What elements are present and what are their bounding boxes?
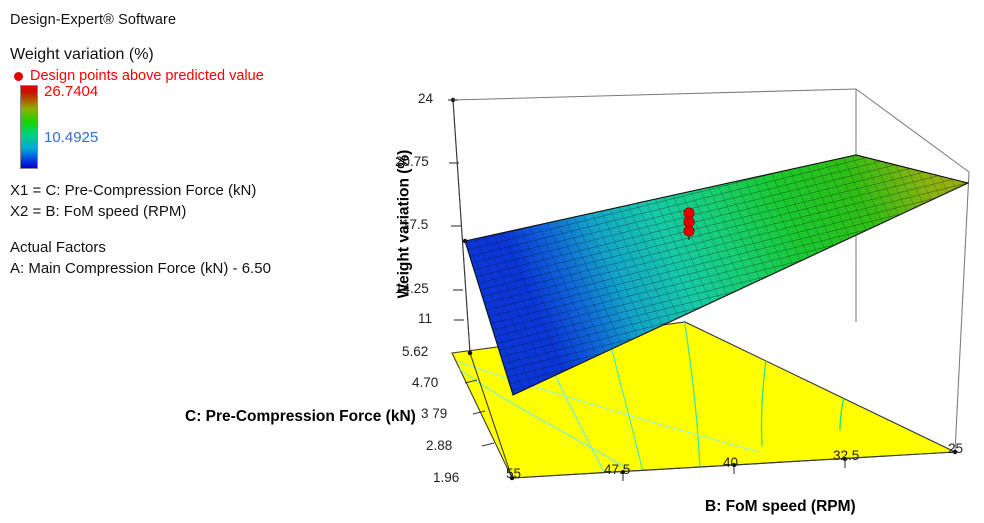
x2-definition: X2 = B: FoM speed (RPM) [10, 202, 340, 223]
z-axis [448, 98, 472, 355]
design-point [684, 226, 694, 236]
c-tick-label-1: 4.70 [412, 375, 438, 390]
actual-factors-heading: Actual Factors [10, 238, 340, 259]
design-points-label: Design points above predicted value [30, 68, 264, 84]
z-axis-title: Weight variation (%) [395, 150, 413, 299]
software-title: Design-Expert® Software [10, 12, 340, 28]
x1-definition: X1 = C: Pre-Compression Force (kN) [10, 181, 340, 202]
c-tick-label-3: 2.88 [426, 438, 452, 453]
color-scale-max-label: 26.7404 [44, 83, 98, 100]
design-point-marker-icon [14, 72, 23, 81]
b-tick-label-2: 40 [723, 455, 738, 470]
z-tick-label-4: 11 [418, 311, 432, 326]
c-tick-label-4: 1.96 [433, 470, 459, 485]
axis-definitions: X1 = C: Pre-Compression Force (kN) X2 = … [10, 181, 340, 222]
color-scale-legend: 26.7404 10.4925 [10, 85, 340, 169]
b-tick-label-1: 47.5 [604, 462, 630, 477]
c-tick-label-2: 3 79 [421, 406, 447, 421]
color-scale-min-label: 10.4925 [44, 129, 98, 146]
info-panel: Design-Expert® Software Weight variation… [10, 12, 340, 280]
actual-factor-a: A: Main Compression Force (kN) - 6.50 [10, 259, 340, 280]
design-expert-3d-surface-plot: Design-Expert® Software Weight variation… [0, 0, 984, 523]
c-tick-label-0: 5.62 [402, 344, 428, 359]
z-tick-label-0: 24 [418, 91, 433, 106]
c-axis-title: C: Pre-Compression Force (kN) [185, 408, 416, 426]
response-title: Weight variation (%) [10, 46, 340, 64]
b-tick-label-4: 25 [948, 441, 963, 456]
plot-area: 24 20.75 17.5 14.25 11 5.62 4.70 3 79 2.… [340, 0, 984, 523]
color-gradient-bar [20, 85, 38, 169]
b-axis-title: B: FoM speed (RPM) [705, 498, 856, 516]
b-tick-label-0: 55 [506, 466, 521, 481]
design-points-legend-row: Design points above predicted value [10, 68, 340, 84]
actual-factors-block: Actual Factors A: Main Compression Force… [10, 238, 340, 279]
b-tick-label-3: 32.5 [833, 448, 859, 463]
design-points-group [684, 208, 694, 240]
